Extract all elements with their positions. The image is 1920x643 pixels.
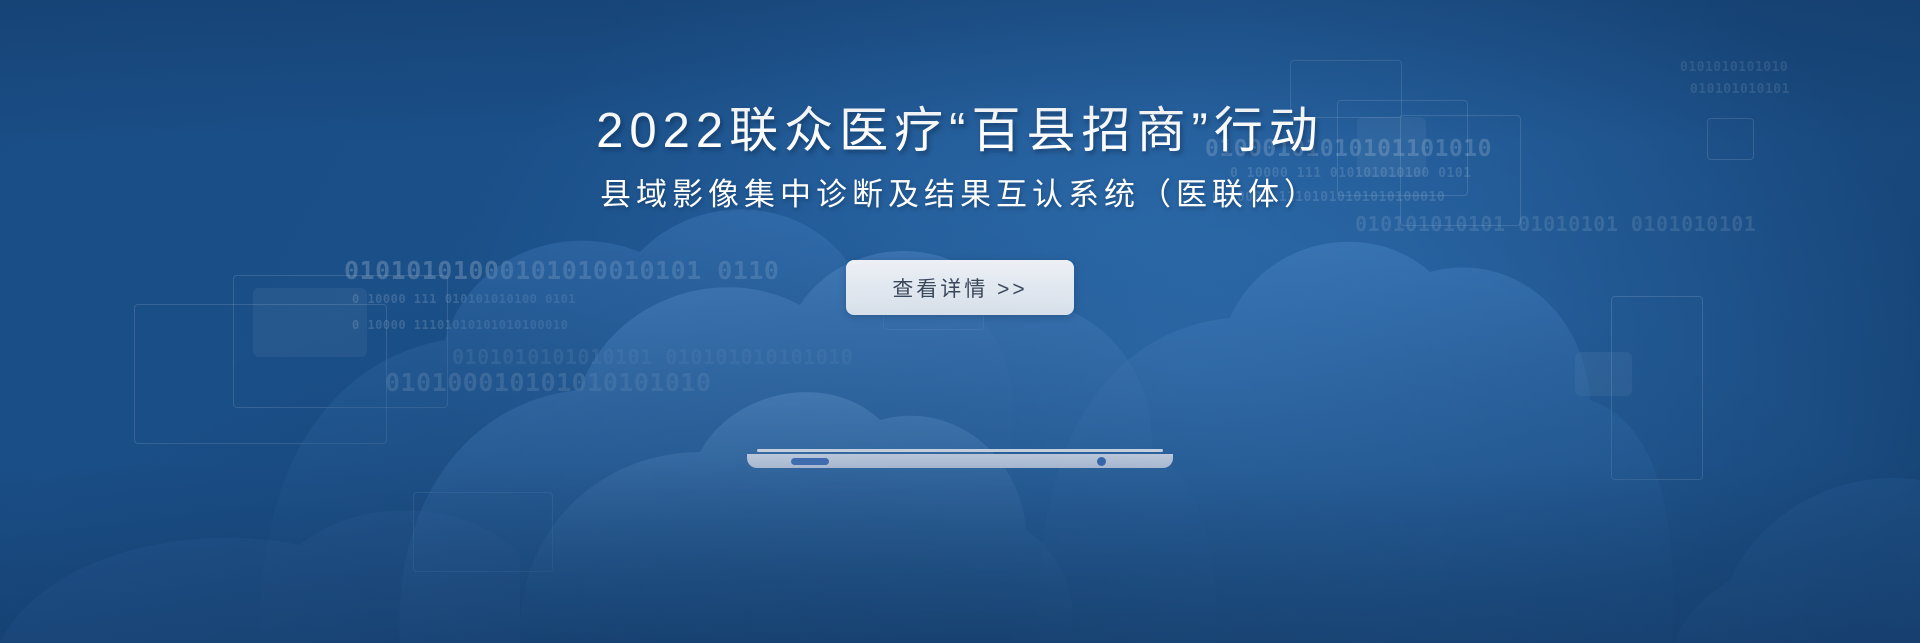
promo-banner: 01010101000101010010101 0110 0 10000 111… [0, 0, 1920, 643]
background-vignette [0, 0, 1920, 643]
